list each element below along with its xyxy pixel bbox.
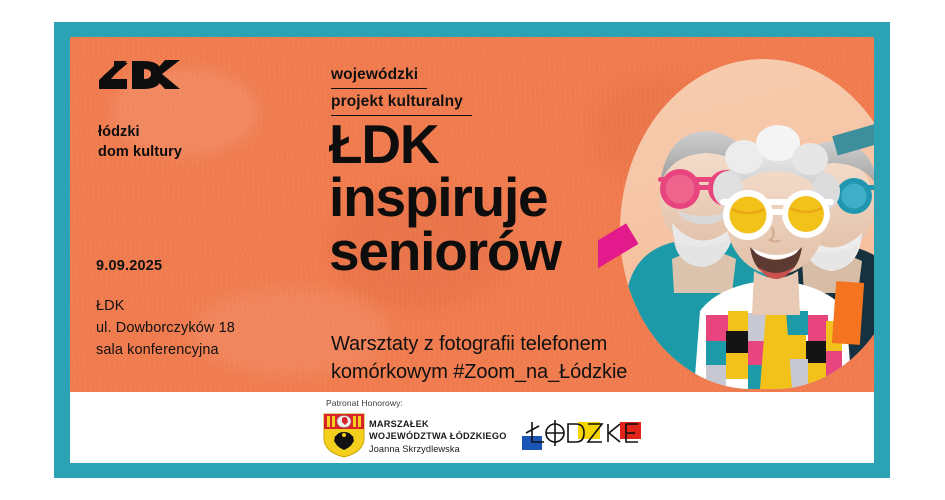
event-date: 9.09.2025 [96,258,162,274]
subtitle-line2: komórkowym #Zoom_na_Łódzkie [331,358,627,386]
marshal-line1: MARSZAŁEK [369,418,507,430]
seniors-portrait [598,37,874,392]
subtitle: Warsztaty z fotografii telefonem komórko… [331,330,627,387]
subtitle-line1: Warsztaty z fotografii telefonem [331,330,627,358]
brand-name: łódzki dom kultury [98,122,182,162]
kicker-text: wojewódzki projekt kulturalny [331,62,472,116]
patronage-label: Patronat Honorowy: [326,398,403,408]
poster-canvas: łódzki dom kultury 9.09.2025 ŁDK ul. Dow… [0,0,945,500]
event-venue: ŁDK ul. Dowborczyków 18 sala konferencyj… [96,296,235,361]
venue-line3: sala konferencyjna [96,340,235,362]
kicker-line1: wojewódzki [331,62,427,89]
lodzkie-logo [520,418,644,452]
brand-name-line2: dom kultury [98,142,182,162]
headline: ŁDK inspiruje seniorów [329,118,561,278]
headline-line3: seniorów [329,225,561,278]
lodzkie-coat-of-arms-icon [322,412,366,458]
marshal-line2: WOJEWÓDZTWA ŁÓDZKIEGO [369,430,507,442]
venue-line1: ŁDK [96,296,235,318]
venue-line2: ul. Dowborczyków 18 [96,318,235,340]
headline-line1: ŁDK [329,118,561,171]
accent-bar-orange [832,281,864,345]
marshal-patronage: MARSZAŁEK WOJEWÓDZTWA ŁÓDZKIEGO Joanna S… [369,418,507,455]
marshal-name: Joanna Skrzydlewska [369,443,507,455]
ldk-logo-mark [98,58,182,106]
headline-line2: inspiruje [329,171,561,224]
brand-name-line1: łódzki [98,122,182,142]
